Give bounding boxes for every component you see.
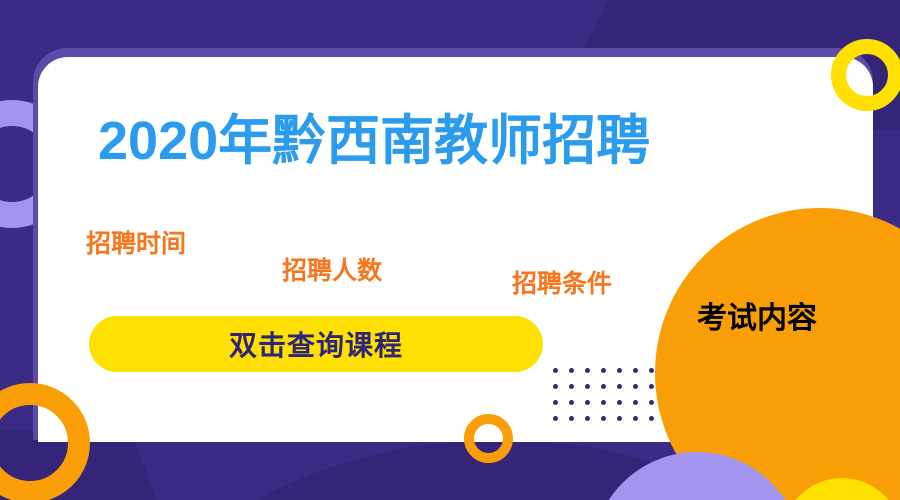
grid-dot <box>553 368 558 373</box>
grid-dot <box>617 384 622 389</box>
grid-dot <box>601 368 606 373</box>
grid-dot <box>569 416 574 421</box>
grid-dot <box>633 384 638 389</box>
grid-dot <box>569 384 574 389</box>
grid-dot <box>649 416 654 421</box>
orange-ring-decoration-small <box>464 414 513 463</box>
grid-dot <box>617 400 622 405</box>
grid-dot <box>553 384 558 389</box>
grid-dot <box>585 384 590 389</box>
grid-dot <box>617 368 622 373</box>
grid-dot <box>569 368 574 373</box>
dot-grid-decoration <box>553 368 665 432</box>
grid-dot <box>601 384 606 389</box>
grid-dot <box>601 416 606 421</box>
grid-dot <box>585 416 590 421</box>
grid-dot <box>553 416 558 421</box>
grid-dot <box>585 368 590 373</box>
page-title: 2020年黔西南教师招聘 <box>98 96 650 175</box>
section-tag-recruitment-requirements[interactable]: 招聘条件 <box>512 264 612 300</box>
grid-dot <box>633 368 638 373</box>
yellow-ring-decoration-top-right <box>831 39 900 111</box>
query-course-button-label: 双击查询课程 <box>229 324 403 364</box>
grid-dot <box>649 384 654 389</box>
grid-dot <box>633 400 638 405</box>
grid-dot <box>649 368 654 373</box>
grid-dot <box>633 416 638 421</box>
section-tag-recruitment-headcount[interactable]: 招聘人数 <box>282 251 382 287</box>
grid-dot <box>553 400 558 405</box>
grid-dot <box>569 400 574 405</box>
grid-dot <box>601 400 606 405</box>
grid-dot <box>585 400 590 405</box>
exam-content-badge[interactable]: 考试内容 <box>697 293 817 337</box>
query-course-button[interactable]: 双击查询课程 <box>89 316 543 372</box>
grid-dot <box>649 400 654 405</box>
grid-dot <box>617 416 622 421</box>
promo-banner: 2020年黔西南教师招聘 招聘时间 招聘人数 招聘条件 双击查询课程 考试内容 <box>0 0 900 500</box>
section-tag-recruitment-time[interactable]: 招聘时间 <box>86 224 186 260</box>
